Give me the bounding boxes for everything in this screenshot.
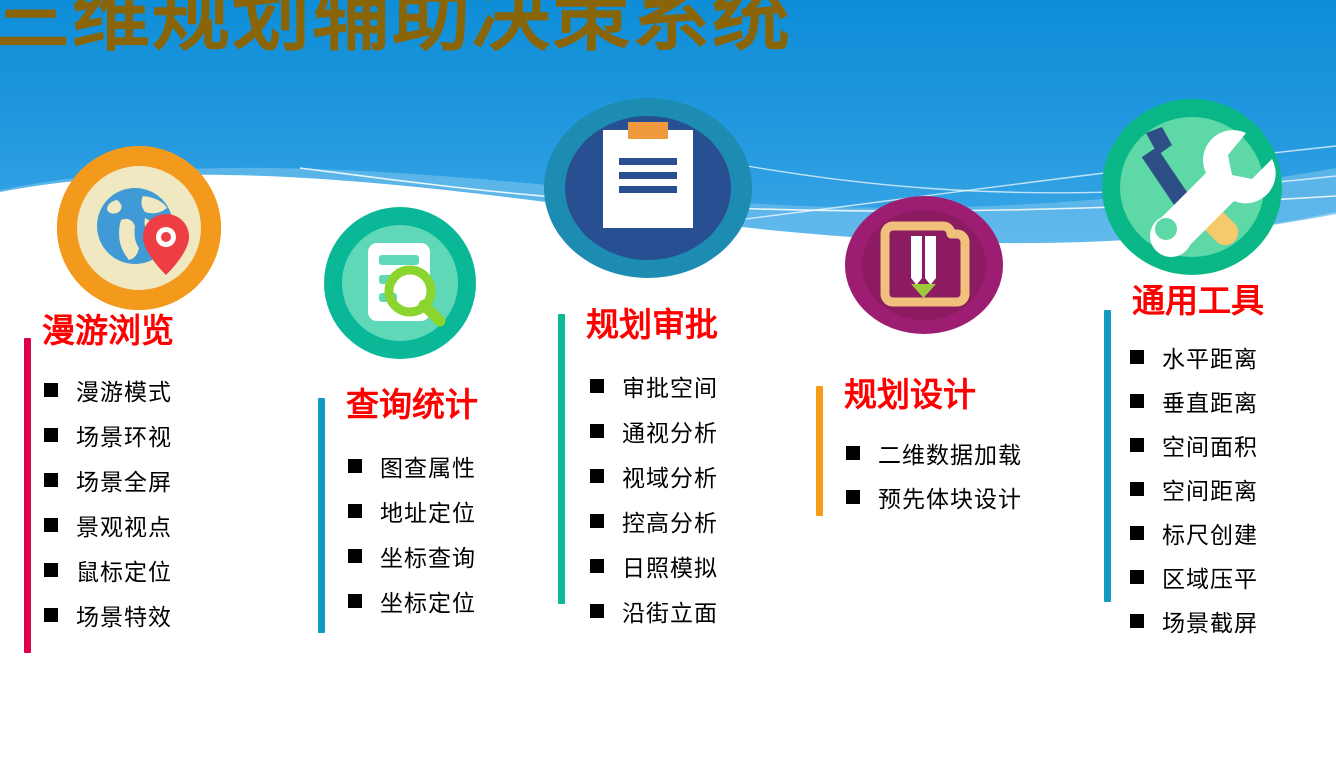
list-item-label: 沿街立面 bbox=[622, 594, 718, 628]
list-item-label: 视域分析 bbox=[622, 459, 718, 493]
column-heading: 查询统计 bbox=[346, 388, 558, 421]
tools-icon bbox=[1102, 99, 1282, 275]
square-bullet-icon bbox=[1130, 526, 1144, 540]
column-accent-bar bbox=[558, 314, 565, 604]
list-item-label: 空间距离 bbox=[1162, 472, 1258, 506]
column-accent-bar bbox=[24, 338, 31, 653]
list-item-label: 漫游模式 bbox=[76, 373, 172, 407]
list-item-label: 图查属性 bbox=[380, 449, 476, 483]
list-item[interactable]: 二维数据加载 bbox=[846, 431, 1086, 475]
square-bullet-icon bbox=[590, 559, 604, 573]
list-item[interactable]: 场景全屏 bbox=[44, 457, 254, 502]
list-item[interactable]: 图查属性 bbox=[348, 443, 558, 488]
square-bullet-icon bbox=[590, 379, 604, 393]
square-bullet-icon bbox=[1130, 438, 1144, 452]
square-bullet-icon bbox=[1130, 482, 1144, 496]
square-bullet-icon bbox=[348, 504, 362, 518]
column-accent-bar bbox=[1104, 310, 1111, 602]
list-item-label: 日照模拟 bbox=[622, 549, 718, 583]
list-item-label: 水平距离 bbox=[1162, 340, 1258, 374]
square-bullet-icon bbox=[348, 594, 362, 608]
square-bullet-icon bbox=[590, 514, 604, 528]
list-item[interactable]: 空间距离 bbox=[1130, 467, 1336, 511]
list-item-label: 通视分析 bbox=[622, 414, 718, 448]
page-title: 三维规划辅助决策系统 bbox=[0, 0, 792, 56]
list-item[interactable]: 标尺创建 bbox=[1130, 511, 1336, 555]
slide-canvas: 三维规划辅助决策系统 bbox=[0, 0, 1336, 763]
square-bullet-icon bbox=[846, 446, 860, 460]
list-item-label: 鼠标定位 bbox=[76, 553, 172, 587]
column-heading: 通用工具 bbox=[1132, 284, 1336, 317]
list-item-label: 景观视点 bbox=[76, 508, 172, 542]
column-accent-bar bbox=[816, 386, 823, 516]
globe-location-icon bbox=[57, 146, 221, 310]
list-item-label: 场景环视 bbox=[76, 418, 172, 452]
column-planning-design: 规划设计 二维数据加载 预先体块设计 bbox=[816, 378, 1086, 519]
list-item-label: 地址定位 bbox=[380, 494, 476, 528]
list-item[interactable]: 空间面积 bbox=[1130, 423, 1336, 467]
list-item-label: 二维数据加载 bbox=[878, 436, 1022, 470]
column-item-list: 图查属性 地址定位 坐标查询 坐标定位 bbox=[348, 443, 558, 623]
column-roam-browse: 漫游浏览 漫游模式 场景环视 场景全屏 景观视点 鼠标定位 bbox=[24, 300, 254, 637]
column-item-list: 二维数据加载 预先体块设计 bbox=[846, 431, 1086, 519]
list-item[interactable]: 视域分析 bbox=[590, 453, 808, 498]
list-item[interactable]: 区域压平 bbox=[1130, 555, 1336, 599]
list-item-label: 垂直距离 bbox=[1162, 384, 1258, 418]
square-bullet-icon bbox=[590, 604, 604, 618]
clipboard-icon bbox=[544, 98, 752, 278]
square-bullet-icon bbox=[1130, 570, 1144, 584]
square-bullet-icon bbox=[348, 549, 362, 563]
list-item-label: 控高分析 bbox=[622, 504, 718, 538]
list-item-label: 预先体块设计 bbox=[878, 480, 1022, 514]
list-item-label: 坐标定位 bbox=[380, 584, 476, 618]
square-bullet-icon bbox=[44, 473, 58, 487]
list-item[interactable]: 垂直距离 bbox=[1130, 379, 1336, 423]
column-heading: 规划设计 bbox=[844, 378, 1086, 411]
square-bullet-icon bbox=[44, 563, 58, 577]
list-item[interactable]: 日照模拟 bbox=[590, 543, 808, 588]
square-bullet-icon bbox=[44, 608, 58, 622]
list-item-label: 审批空间 bbox=[622, 369, 718, 403]
column-query-statistics: 查询统计 图查属性 地址定位 坐标查询 坐标定位 bbox=[318, 388, 558, 623]
list-item-label: 场景截屏 bbox=[1162, 604, 1258, 638]
column-item-list: 漫游模式 场景环视 场景全屏 景观视点 鼠标定位 场景特效 bbox=[44, 367, 254, 637]
square-bullet-icon bbox=[846, 490, 860, 504]
list-item[interactable]: 预先体块设计 bbox=[846, 475, 1086, 519]
column-heading: 规划审批 bbox=[586, 308, 808, 341]
square-bullet-icon bbox=[44, 383, 58, 397]
list-item-label: 场景全屏 bbox=[76, 463, 172, 497]
list-item[interactable]: 场景截屏 bbox=[1130, 599, 1336, 643]
list-item-label: 坐标查询 bbox=[380, 539, 476, 573]
square-bullet-icon bbox=[1130, 614, 1144, 628]
list-item-label: 区域压平 bbox=[1162, 560, 1258, 594]
column-general-tools: 通用工具 水平距离 垂直距离 空间面积 空间距离 标尺创建 bbox=[1104, 284, 1336, 643]
list-item-label: 空间面积 bbox=[1162, 428, 1258, 462]
document-search-icon bbox=[324, 207, 476, 359]
square-bullet-icon bbox=[348, 459, 362, 473]
square-bullet-icon bbox=[1130, 394, 1144, 408]
list-item[interactable]: 坐标查询 bbox=[348, 533, 558, 578]
list-item[interactable]: 景观视点 bbox=[44, 502, 254, 547]
list-item[interactable]: 地址定位 bbox=[348, 488, 558, 533]
column-planning-approval: 规划审批 审批空间 通视分析 视域分析 控高分析 日照模拟 bbox=[558, 298, 808, 633]
list-item[interactable]: 坐标定位 bbox=[348, 578, 558, 623]
square-bullet-icon bbox=[1130, 350, 1144, 364]
list-item[interactable]: 水平距离 bbox=[1130, 335, 1336, 379]
column-item-list: 水平距离 垂直距离 空间面积 空间距离 标尺创建 区域压平 bbox=[1130, 335, 1336, 643]
square-bullet-icon bbox=[44, 428, 58, 442]
square-bullet-icon bbox=[44, 518, 58, 532]
list-item[interactable]: 场景环视 bbox=[44, 412, 254, 457]
list-item-label: 场景特效 bbox=[76, 598, 172, 632]
bookmark-download-icon bbox=[845, 196, 1003, 334]
list-item[interactable]: 通视分析 bbox=[590, 408, 808, 453]
square-bullet-icon bbox=[590, 469, 604, 483]
column-heading: 漫游浏览 bbox=[42, 314, 254, 347]
list-item[interactable]: 审批空间 bbox=[590, 363, 808, 408]
list-item-label: 标尺创建 bbox=[1162, 516, 1258, 550]
column-item-list: 审批空间 通视分析 视域分析 控高分析 日照模拟 沿街立面 bbox=[590, 363, 808, 633]
list-item[interactable]: 场景特效 bbox=[44, 592, 254, 637]
list-item[interactable]: 漫游模式 bbox=[44, 367, 254, 412]
list-item[interactable]: 控高分析 bbox=[590, 498, 808, 543]
square-bullet-icon bbox=[590, 424, 604, 438]
column-accent-bar bbox=[318, 398, 325, 633]
list-item[interactable]: 沿街立面 bbox=[590, 588, 808, 633]
list-item[interactable]: 鼠标定位 bbox=[44, 547, 254, 592]
